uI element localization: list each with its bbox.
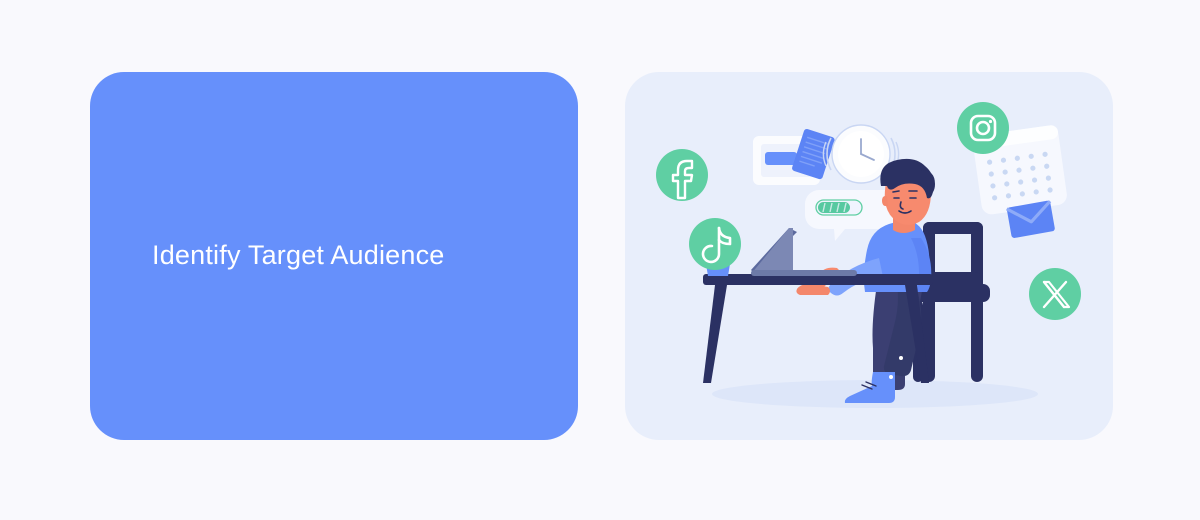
page-root: Identify Target Audience: [0, 0, 1200, 520]
title-card: Identify Target Audience: [90, 72, 578, 440]
laptop-icon: [751, 228, 857, 276]
facebook-icon[interactable]: [656, 149, 708, 201]
progress-bar-fill: [818, 202, 850, 213]
illustration-card: 45%: [625, 72, 1113, 440]
page-title: Identify Target Audience: [90, 239, 445, 273]
tiktok-icon[interactable]: [689, 218, 741, 270]
x-twitter-icon[interactable]: [1029, 268, 1081, 320]
document-icon: [791, 128, 835, 180]
instagram-icon[interactable]: [957, 102, 1009, 154]
marketing-illustration: 45%: [625, 72, 1113, 440]
